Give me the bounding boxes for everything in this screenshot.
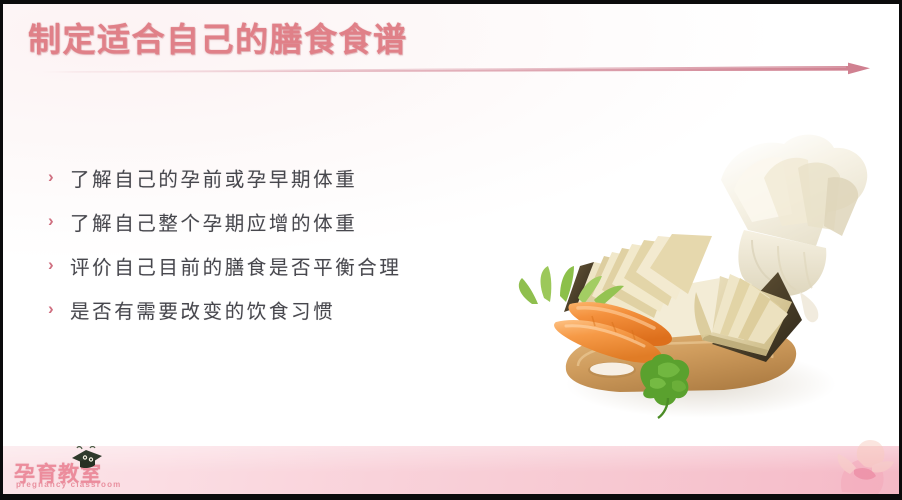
frame-bar-bottom xyxy=(0,494,902,500)
brand-logo: 孕育教室 pregnancy classroom xyxy=(14,446,134,492)
bullet-list: › 了解自己的孕前或孕早期体重 › 了解自己整个孕期应增的体重 › 评价自己目前… xyxy=(48,155,402,331)
brand-logo-en: pregnancy classroom xyxy=(16,480,122,489)
chevron-right-icon: › xyxy=(48,168,70,185)
list-item: › 评价自己目前的膳食是否平衡合理 xyxy=(48,243,402,287)
list-item: › 了解自己整个孕期应增的体重 xyxy=(48,199,402,243)
chevron-right-icon: › xyxy=(48,212,70,229)
divider-arrow-icon xyxy=(22,62,870,76)
list-item-label: 是否有需要改变的饮食习惯 xyxy=(70,295,335,324)
recipe-book-photo xyxy=(516,126,902,438)
list-item-label: 了解自己的孕前或孕早期体重 xyxy=(70,163,357,192)
list-item-label: 评价自己目前的膳食是否平衡合理 xyxy=(70,251,402,280)
frame-bar-left xyxy=(0,0,3,500)
slide-title: 制定适合自己的膳食食谱 xyxy=(28,13,408,61)
chevron-right-icon: › xyxy=(48,300,70,317)
footer-band xyxy=(3,446,899,494)
list-item-label: 了解自己整个孕期应增的体重 xyxy=(70,207,357,236)
slide-canvas: 制定适合自己的膳食食谱 › 了解自己的孕前或孕早期体重 xyxy=(0,0,902,500)
list-item: › 是否有需要改变的饮食习惯 xyxy=(48,287,402,331)
list-item: › 了解自己的孕前或孕早期体重 xyxy=(48,155,402,199)
chevron-right-icon: › xyxy=(48,256,70,273)
graduation-cap-icon xyxy=(70,446,104,470)
frame-bar-top xyxy=(0,0,902,4)
